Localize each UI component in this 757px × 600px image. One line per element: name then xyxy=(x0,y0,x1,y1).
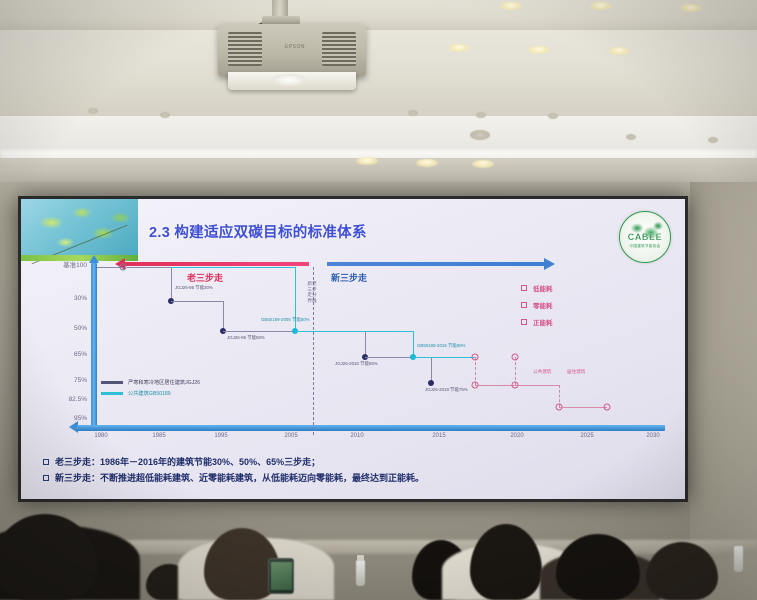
x-tick-label: 2015 xyxy=(432,433,445,439)
downlight-ceiling-top xyxy=(680,4,702,12)
bullet-square-icon xyxy=(43,459,49,465)
ceiling-fixture xyxy=(476,112,486,118)
y-tick-label: 30% xyxy=(74,295,87,302)
data-point-jgj26-2018 xyxy=(428,380,434,386)
data-point-label: JGJ26-95 节能50% xyxy=(227,335,265,341)
y-axis-arrow-icon xyxy=(89,255,99,263)
bullet-square-icon xyxy=(43,475,49,481)
series-jgj26-segment xyxy=(127,267,171,268)
series-future-segment xyxy=(559,407,607,408)
data-point-label: GB50189-2005 节能50% xyxy=(261,317,310,323)
bullet-item-old: 老三步走：1986年－2016年的建筑节能30%、50%、65%三步走； xyxy=(43,457,673,468)
key-label: 正能耗 xyxy=(533,317,553,327)
old-phase-arrow xyxy=(124,262,309,266)
downlight xyxy=(608,47,630,55)
energy-level-key: 低能耗 零能耗 正能耗 xyxy=(521,283,553,334)
data-point-label: JGJ26-2010 节能65% xyxy=(335,361,378,367)
presentation-slide: 2.3 构建适应双碳目标的标准体系 CABEE 中国建筑节能协会 基准100 3… xyxy=(21,199,685,499)
projection-screen: 2.3 构建适应双碳目标的标准体系 CABEE 中国建筑节能协会 基准100 3… xyxy=(18,196,688,502)
data-point-future xyxy=(512,354,519,361)
y-tick-label: 基准100 xyxy=(63,259,87,269)
y-tick-label: 65% xyxy=(74,351,87,358)
water-bottle xyxy=(356,560,365,586)
x-tick-label: 1985 xyxy=(152,433,165,439)
ceiling-sprinkler xyxy=(708,137,718,143)
downlight xyxy=(356,157,378,165)
cabee-logo-text: CABEE xyxy=(628,232,663,242)
water-bottle xyxy=(734,546,743,572)
downlight xyxy=(472,160,494,168)
new-phase-arrow xyxy=(327,262,545,266)
phone-screen xyxy=(271,562,292,590)
series-gb50189-segment xyxy=(413,357,475,358)
legend-item-jgj26: 严寒和寒冷地区居住建筑JGJ26 xyxy=(101,379,200,386)
cabee-logo-subtitle: 中国建筑节能协会 xyxy=(629,244,660,249)
projector-vent-left xyxy=(228,32,262,66)
y-axis-labels: 基准100 30% 50% 65% 75% 82.5% 95% xyxy=(39,261,87,433)
ceiling-upper xyxy=(0,0,757,32)
checkbox-icon xyxy=(521,302,527,308)
key-item-positive-energy: 正能耗 xyxy=(521,317,553,327)
x-tick-label: 2020 xyxy=(510,433,523,439)
series-jgj26-segment xyxy=(171,301,223,302)
old-phase-label: 老三步走 xyxy=(187,271,223,284)
projector-vent-right xyxy=(322,32,356,66)
x-tick-label: 2010 xyxy=(350,433,363,439)
bullet-text: 老三步走：1986年－2016年的建筑节能30%、50%、65%三步走； xyxy=(55,457,320,468)
x-tick-label: 2030 xyxy=(646,433,659,439)
chart-legend: 严寒和寒冷地区居住建筑JGJ26 公共建筑GB50189 xyxy=(101,379,200,401)
checkbox-icon xyxy=(521,285,527,291)
series-jgj26-segment xyxy=(223,301,224,331)
key-label: 零能耗 xyxy=(533,300,553,310)
data-point-label: JGJ26-86 节能30% xyxy=(175,285,213,291)
energy-saving-step-chart: 基准100 30% 50% 65% 75% 82.5% 95% 1980 198… xyxy=(39,261,673,446)
ceiling-fixture xyxy=(160,112,170,118)
ceiling-fixture xyxy=(88,108,98,114)
data-point-baseline xyxy=(120,264,127,271)
x-tick-label: 1980 xyxy=(94,433,107,439)
y-tick-label: 82.5% xyxy=(69,396,87,403)
bottle-cap xyxy=(357,555,364,560)
slide-bullet-list: 老三步走：1986年－2016年的建筑节能30%、50%、65%三步走； 新三步… xyxy=(43,457,673,490)
downlight-ceiling-top xyxy=(500,2,522,10)
conference-room-photo: EPSON 2.3 构建适应双碳目标的标准体系 CABEE 中国建筑节能协会 xyxy=(0,0,757,600)
downlight-ceiling-top xyxy=(590,2,612,10)
cabee-logo: CABEE 中国建筑节能协会 xyxy=(619,211,671,263)
bullet-text: 新三步走：不断推进超低能耗建筑、近零能耗建筑，从低能耗迈向零能耗，最终达到正能耗… xyxy=(55,473,424,484)
slide-title: 2.3 构建适应双碳目标的标准体系 xyxy=(149,221,367,242)
foliage-decoration-image xyxy=(21,199,138,261)
legend-swatch xyxy=(101,381,123,383)
projector-brand-label: EPSON xyxy=(285,44,305,50)
x-tick-label: 2005 xyxy=(284,433,297,439)
downlight xyxy=(528,46,550,54)
bullet-item-new: 新三步走：不断推进超低能耗建筑、近零能耗建筑，从低能耗迈向零能耗，最终达到正能耗… xyxy=(43,473,673,484)
key-item-zero-energy: 零能耗 xyxy=(521,300,553,310)
projector xyxy=(218,24,366,76)
ceiling-fixture xyxy=(408,110,418,116)
legend-swatch xyxy=(101,392,123,394)
x-tick-label: 1995 xyxy=(214,433,227,439)
y-tick-label: 95% xyxy=(74,415,87,422)
annotation-residential-building: 居住建筑 xyxy=(567,369,585,375)
y-tick-label: 75% xyxy=(74,377,87,384)
legend-item-gb50189: 公共建筑GB50189 xyxy=(101,390,200,397)
x-tick-label: 2025 xyxy=(580,433,593,439)
series-gb50189-segment xyxy=(171,267,295,268)
smartphone[interactable] xyxy=(268,558,294,594)
data-point-label: JGJ26-2018 节能75% xyxy=(425,387,468,393)
new-phase-label: 新三步走 xyxy=(331,271,367,284)
y-axis xyxy=(91,263,97,431)
legend-label: 公共建筑GB50189 xyxy=(128,390,171,397)
annotation-public-building: 公共建筑 xyxy=(533,369,551,375)
legend-label: 严寒和寒冷地区居住建筑JGJ26 xyxy=(128,379,200,386)
x-axis xyxy=(77,425,665,431)
key-label: 低能耗 xyxy=(533,283,553,293)
phase-divider-label: 新老三步走分界线 xyxy=(307,281,317,304)
downlight xyxy=(448,44,470,52)
ceiling-band xyxy=(0,30,757,118)
data-point-positive-energy xyxy=(604,404,611,411)
checkbox-icon xyxy=(521,319,527,325)
data-point-label: GB50189-2015 节能65% xyxy=(417,343,466,349)
room-wall-right xyxy=(690,182,757,600)
series-jgj26-segment xyxy=(171,267,172,301)
series-future-segment xyxy=(475,385,515,386)
downlight xyxy=(416,159,438,167)
ceiling-sprinkler xyxy=(626,134,636,140)
y-tick-label: 50% xyxy=(74,325,87,332)
ceiling-speaker xyxy=(470,130,490,140)
series-gb50189-segment xyxy=(295,331,413,332)
series-future-segment xyxy=(515,385,559,386)
projector-lens xyxy=(272,74,306,86)
ceiling-fixture xyxy=(548,113,558,119)
key-item-low-energy: 低能耗 xyxy=(521,283,553,293)
